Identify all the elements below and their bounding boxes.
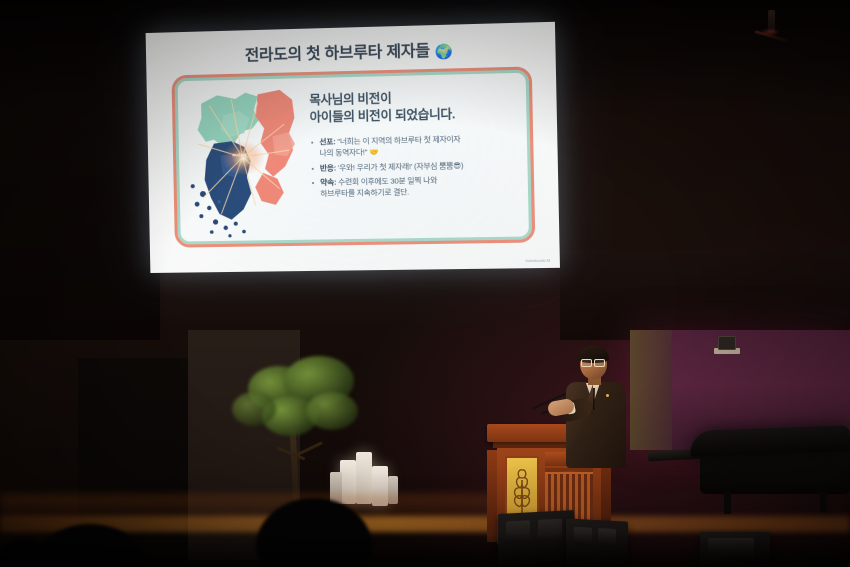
slide-bullet-item: 반응: '우와! 우리가 첫 제자래!' (자부심 뿜뿜😎) [311,159,521,175]
bullet-text: 수련회 이후에도 30분 일찍 나와 [336,176,437,187]
slide-bullet-list: 선포: "너희는 이 지역의 하브루타 첫 제자이자 나의 동역자다!" 🤝 반… [310,132,521,200]
backdrop-panel-edge [630,330,672,450]
foreground-shadow [0,533,850,567]
lapel-pin-icon [606,394,609,397]
map-glow-burst [222,141,265,176]
piano-lid [690,425,850,457]
slide-card-body: BUSAN 목사님의 비전이 아이들의 비전이 되었습니다. 선포: "너희는 … [175,70,533,245]
glasses-icon [581,359,605,365]
slide-bullet-item: 약속: 수련회 이후에도 30분 일찍 나와 하브루타를 지속하기로 결단. [311,173,521,200]
tree-foliage [306,392,358,430]
projection-screen: 전라도의 첫 하브루타 제자들🌍 [146,22,560,273]
bullet-text-cont: 나의 동역자다!" [319,148,367,158]
piano-leg [724,492,731,514]
globe-icon: 🌍 [435,43,453,61]
slide-content: 전라도의 첫 하브루타 제자들🌍 [146,22,560,273]
slide-title-text: 전라도의 첫 하브루타 제자들 [245,43,430,65]
tree-foliage [232,392,276,426]
bullet-text-cont: ) [461,161,464,170]
slide-text-column: 목사님의 비전이 아이들의 비전이 되었습니다. 선포: "너희는 이 지역의 … [300,78,522,235]
handshake-icon: 🤝 [369,148,378,157]
slide-lead-line2: 아이들의 비전이 되었습니다. [310,105,520,127]
stage-floor-light-strip [0,516,850,532]
piano-leg [820,492,827,512]
slide-lead: 목사님의 비전이 아이들의 비전이 되었습니다. [309,87,519,127]
slide-bullet-item: 선포: "너희는 이 지역의 하브루타 첫 제자이자 나의 동역자다!" 🤝 [310,132,520,159]
bullet-label: 선포: [319,137,335,146]
bullet-text: "너희는 이 지역의 하브루타 첫 제자이자 [335,134,460,146]
notebooklm-watermark: NotebookLM [526,258,551,263]
bullet-text: '우와! 우리가 첫 제자래!' (자부심 뿜뿜 [336,161,453,172]
bullet-label: 약속: [320,178,336,187]
right-wall-block [560,250,850,340]
bullet-label: 반응: [320,163,336,172]
stage-photo-scene: 전라도의 첫 하브루타 제자들🌍 [0,0,850,567]
slide-title: 전라도의 첫 하브루타 제자들🌍 [146,35,556,68]
korea-map-illustration: BUSAN [183,83,303,242]
bullet-text-cont: 하브루타를 지속하기로 결단. [320,188,409,199]
ceiling-light-glow [760,28,780,36]
speaker [556,348,634,468]
slide-card: BUSAN 목사님의 비전이 아이들의 비전이 되었습니다. 선포: "너희는 … [171,66,535,247]
ptz-camera-icon [718,336,736,350]
map-city-label: BUSAN [232,153,246,157]
